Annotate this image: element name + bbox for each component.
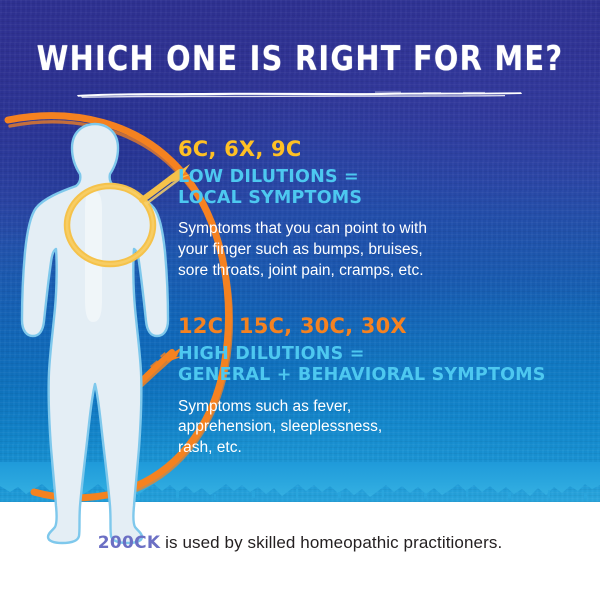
high-dilution-potency-label: 12C, 15C, 30C, 30X bbox=[178, 315, 582, 338]
paint-drip-specks bbox=[34, 487, 587, 500]
low-dilution-subheading: LOW DILUTIONS = LOCAL SYMPTOMS bbox=[178, 167, 582, 208]
title-brush-underline-icon bbox=[75, 90, 525, 99]
content-column: 6C, 6X, 9C LOW DILUTIONS = LOCAL SYMPTOM… bbox=[178, 138, 582, 470]
footer-potency-accent: 200CK bbox=[98, 533, 161, 553]
high-dilution-block: 12C, 15C, 30C, 30X HIGH DILUTIONS = GENE… bbox=[178, 315, 582, 458]
high-dilution-subheading: HIGH DILUTIONS = GENERAL + BEHAVIORAL SY… bbox=[178, 344, 582, 385]
low-dilution-potency-label: 6C, 6X, 9C bbox=[178, 138, 582, 161]
low-dilution-block: 6C, 6X, 9C LOW DILUTIONS = LOCAL SYMPTOM… bbox=[178, 138, 582, 281]
block-spacer bbox=[178, 293, 582, 315]
title-area: WHICH ONE IS RIGHT FOR ME? bbox=[0, 42, 600, 76]
footer-note: 200CK is used by skilled homeopathic pra… bbox=[0, 533, 600, 553]
page-title: WHICH ONE IS RIGHT FOR ME? bbox=[18, 42, 582, 76]
low-dilution-body-text: Symptoms that you can point to with your… bbox=[178, 219, 582, 281]
footer-note-text: is used by skilled homeopathic practitio… bbox=[160, 533, 502, 552]
high-dilution-body-text: Symptoms such as fever, apprehension, sl… bbox=[178, 397, 582, 459]
infographic-poster: WHICH ONE IS RIGHT FOR ME? bbox=[0, 0, 600, 600]
